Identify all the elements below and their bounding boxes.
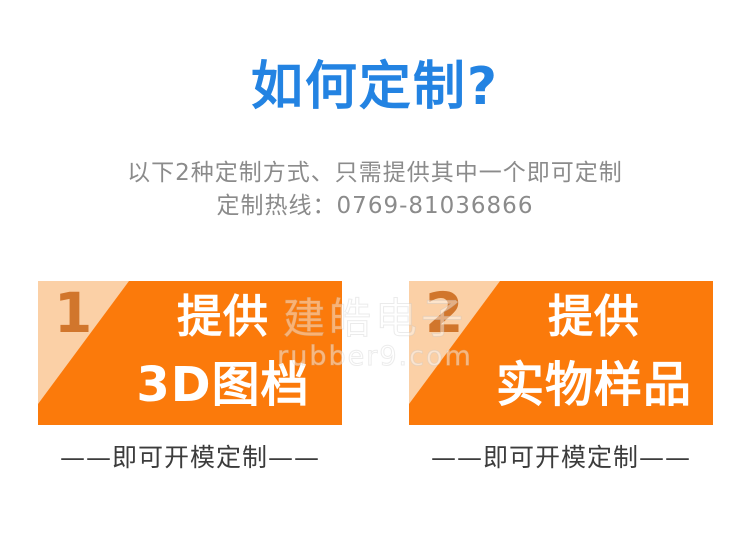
card-2-line-2: 实物样品 [483, 351, 705, 419]
card-1-line-1: 提供 [112, 283, 334, 351]
caption-card-2: ——即可开模定制—— [409, 438, 713, 474]
card-2-line-1: 提供 [483, 283, 705, 351]
custom-order-banner: 如何定制? 以下2种定制方式、只需提供其中一个即可定制 定制热线：0769-81… [0, 0, 750, 546]
subtitle-block: 以下2种定制方式、只需提供其中一个即可定制 定制热线：0769-81036866 [0, 157, 750, 223]
card-number-1: 1 [54, 286, 92, 341]
card-1-line-2: 3D图档 [112, 351, 334, 419]
option-card-2[interactable]: 2 提供 实物样品 [409, 281, 713, 425]
option-cards: 1 提供 3D图档 2 提供 实物样品 [0, 281, 750, 425]
card-text-1: 提供 3D图档 [112, 283, 334, 419]
page-title: 如何定制? [0, 58, 750, 118]
card-text-2: 提供 实物样品 [483, 283, 705, 419]
card-captions: ——即可开模定制—— ——即可开模定制—— [0, 438, 750, 478]
heading-block: 如何定制? [0, 58, 750, 118]
caption-card-1: ——即可开模定制—— [38, 438, 342, 474]
subtitle-line-methods: 以下2种定制方式、只需提供其中一个即可定制 [0, 157, 750, 190]
option-card-1[interactable]: 1 提供 3D图档 [38, 281, 342, 425]
subtitle-line-hotline: 定制热线：0769-81036866 [0, 190, 750, 223]
card-number-2: 2 [425, 286, 463, 341]
